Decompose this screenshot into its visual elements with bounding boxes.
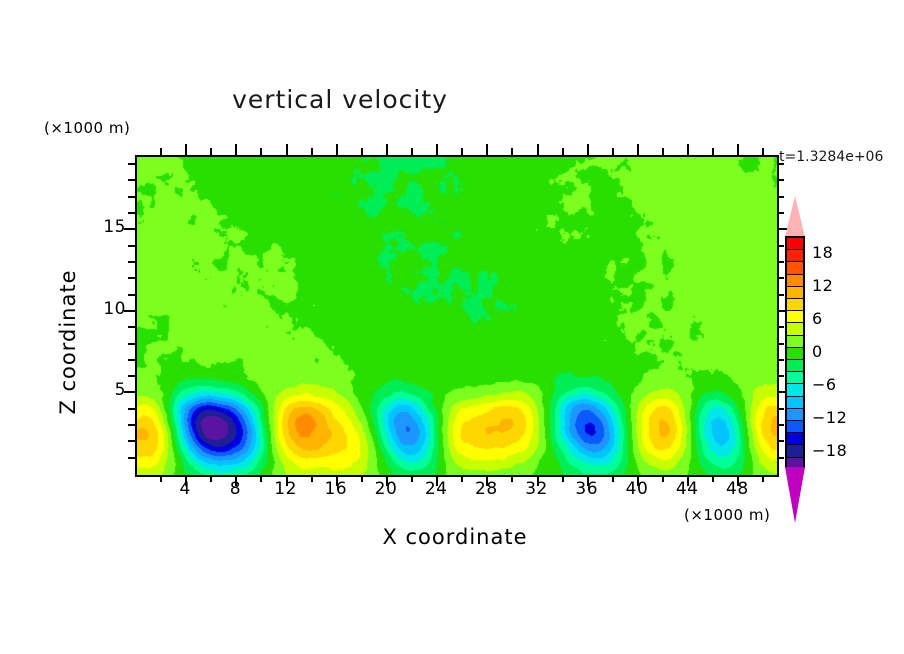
axis-tick xyxy=(436,144,438,155)
axis-tick xyxy=(128,326,135,328)
colorbar-band xyxy=(787,397,803,409)
axis-tick xyxy=(128,424,135,426)
x-tick-label: 36 xyxy=(564,479,610,499)
page-title: vertical velocity xyxy=(0,85,680,114)
axis-tick xyxy=(386,144,388,155)
colorbar-tick-label: 18 xyxy=(812,243,833,262)
y-axis-title: Z coordinate xyxy=(56,242,80,442)
colorbar-tick-label: 0 xyxy=(812,342,823,361)
axis-tick xyxy=(128,440,135,442)
axis-tick xyxy=(712,148,714,155)
colorbar-band xyxy=(787,384,803,396)
axis-tick xyxy=(762,475,764,482)
colorbar-band xyxy=(787,360,803,372)
axis-tick xyxy=(762,148,764,155)
axis-tick xyxy=(128,359,135,361)
colorbar-band xyxy=(787,299,803,311)
x-tick-label: 40 xyxy=(614,479,660,499)
axis-tick xyxy=(777,179,784,181)
x-axis-unit-label: (×1000 m) xyxy=(684,506,770,524)
colorbar-band xyxy=(787,421,803,433)
time-annotation: t=1.3284e+06 xyxy=(779,149,883,165)
colorbar-over-cap xyxy=(785,196,805,237)
axis-tick xyxy=(637,144,639,155)
axis-tick xyxy=(128,245,135,247)
axis-tick xyxy=(128,343,135,345)
axis-tick xyxy=(737,144,739,155)
colorbar-band xyxy=(787,433,803,445)
colorbar-tick-label: −18 xyxy=(812,441,847,460)
axis-tick xyxy=(128,457,135,459)
axis-tick xyxy=(128,163,135,165)
axis-tick xyxy=(511,148,513,155)
colorbar-band xyxy=(787,238,803,250)
x-tick-label: 16 xyxy=(313,479,359,499)
axis-tick xyxy=(260,148,262,155)
axis-tick xyxy=(311,148,313,155)
x-tick-label: 20 xyxy=(363,479,409,499)
contour-field xyxy=(137,157,777,475)
y-axis-unit-label: (×1000 m) xyxy=(44,119,130,137)
colorbar-under-cap xyxy=(785,467,805,523)
axis-tick xyxy=(336,144,338,155)
colorbar-tick-label: 12 xyxy=(812,276,833,295)
colorbar-band xyxy=(787,348,803,360)
axis-tick xyxy=(128,294,135,296)
x-tick-label: 28 xyxy=(463,479,509,499)
axis-tick xyxy=(185,144,187,155)
colorbar-band xyxy=(787,262,803,274)
axis-tick xyxy=(612,148,614,155)
y-tick-label: 10 xyxy=(86,299,126,319)
axis-tick xyxy=(128,212,135,214)
colorbar-band xyxy=(787,323,803,335)
colorbar-band xyxy=(787,372,803,384)
axis-tick xyxy=(461,148,463,155)
axis-tick xyxy=(128,179,135,181)
axis-tick xyxy=(662,148,664,155)
x-tick-label: 48 xyxy=(714,479,760,499)
plot-area xyxy=(135,155,779,477)
x-tick-label: 4 xyxy=(162,479,208,499)
axis-tick xyxy=(128,277,135,279)
colorbar-band xyxy=(787,336,803,348)
y-tick-label: 15 xyxy=(86,217,126,237)
colorbar xyxy=(783,196,807,522)
x-tick-label: 24 xyxy=(413,479,459,499)
axis-tick xyxy=(160,148,162,155)
axis-tick xyxy=(128,261,135,263)
axis-tick xyxy=(411,148,413,155)
axis-tick xyxy=(286,144,288,155)
x-tick-label: 8 xyxy=(212,479,258,499)
colorbar-tick-label: −6 xyxy=(812,375,837,394)
x-tick-label: 32 xyxy=(514,479,560,499)
axis-tick xyxy=(128,375,135,377)
colorbar-band xyxy=(787,250,803,262)
axis-tick xyxy=(587,144,589,155)
colorbar-tick-label: 6 xyxy=(812,309,823,328)
x-tick-label: 12 xyxy=(263,479,309,499)
colorbar-band xyxy=(787,311,803,323)
axis-tick xyxy=(128,408,135,410)
colorbar-bands xyxy=(785,236,805,468)
axis-tick xyxy=(486,144,488,155)
contour-plot-figure: vertical velocity (×1000 m) (×1000 m) t=… xyxy=(0,0,904,654)
axis-tick xyxy=(235,144,237,155)
axis-tick xyxy=(361,148,363,155)
colorbar-band xyxy=(787,275,803,287)
axis-tick xyxy=(777,163,784,165)
axis-tick xyxy=(128,196,135,198)
axis-tick xyxy=(687,144,689,155)
colorbar-band xyxy=(787,445,803,457)
axis-tick xyxy=(562,148,564,155)
colorbar-band xyxy=(787,409,803,421)
axis-tick xyxy=(537,144,539,155)
colorbar-band xyxy=(787,287,803,299)
x-axis-title: X coordinate xyxy=(135,525,775,549)
axis-tick xyxy=(210,148,212,155)
y-tick-label: 5 xyxy=(86,380,126,400)
x-tick-label: 44 xyxy=(664,479,710,499)
colorbar-tick-label: −12 xyxy=(812,408,847,427)
